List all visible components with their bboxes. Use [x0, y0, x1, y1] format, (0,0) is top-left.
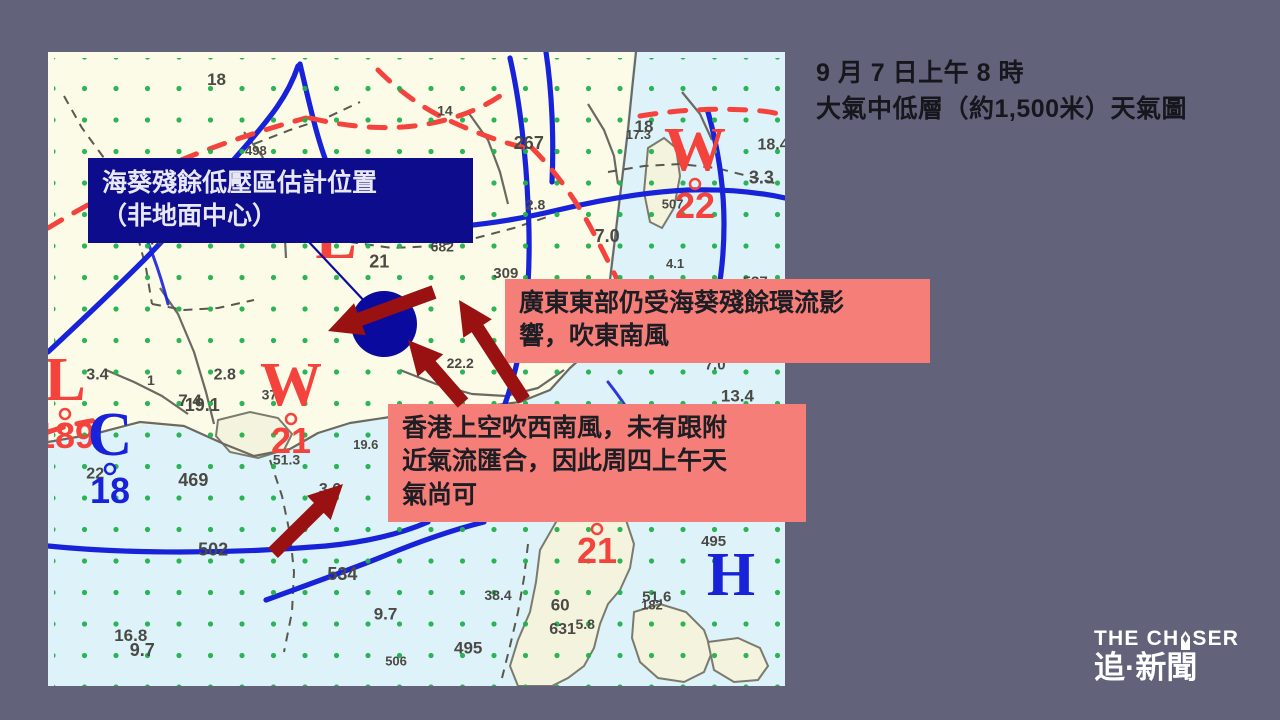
station-value: 502 [198, 540, 228, 560]
brand-logo[interactable]: THE CH SER 追·新聞 [1094, 628, 1256, 690]
callout-red-top-line-2: 響，吹東南風 [519, 320, 918, 353]
station-value: 19.6 [353, 437, 378, 452]
station-value: 21 [369, 251, 389, 271]
station-value: 3.3 [749, 168, 774, 188]
infographic-root: 50622.29.730913.47.438.42.853716.87.0534… [0, 0, 1280, 720]
map-symbol-c: C18 [88, 401, 133, 511]
station-value: 534 [327, 564, 357, 584]
station-value: 4.1 [666, 256, 684, 271]
pen-nib-icon [1180, 631, 1191, 650]
symbol-value: 18 [90, 470, 130, 511]
callout-hongkong-southwest-wind[interactable]: 香港上空吹西南風，未有跟附 近氣流匯合，因此周四上午天 氣尚可 [388, 404, 806, 522]
callout-red-top-line-1: 廣東東部仍受海葵殘餘環流影 [519, 287, 918, 320]
station-value: 3.4 [86, 367, 108, 384]
callout-blue-line-1: 海葵殘餘低壓區估計位置 [102, 167, 459, 200]
station-value: 60 [551, 596, 570, 615]
title-line-1: 9 月 7 日上午 8 時 [816, 56, 1276, 92]
weather-map-graphic: 50622.29.730913.47.438.42.853716.87.0534… [48, 52, 785, 686]
station-value: 13.4 [721, 387, 755, 406]
station-value: 51.6 [642, 588, 671, 605]
station-value: 506 [385, 653, 407, 668]
logo-english-head: THE CH [1094, 628, 1179, 649]
callout-red-bottom-line-2: 近氣流匯合，因此周四上午天 [402, 445, 794, 478]
station-value: 5.8 [576, 616, 596, 632]
station-value: 38.4 [484, 587, 511, 603]
callout-guangdong-southeast-wind[interactable]: 廣東東部仍受海葵殘餘環流影 響，吹東南風 [505, 279, 930, 363]
station-value: 1 [147, 372, 155, 388]
callout-red-bottom-line-3: 氣尚可 [402, 479, 794, 512]
callout-low-pressure-estimate[interactable]: 海葵殘餘低壓區估計位置 （非地面中心） [88, 158, 473, 243]
station-value: 9.7 [130, 640, 155, 660]
callout-red-bottom-line-1: 香港上空吹西南風，未有跟附 [402, 412, 794, 445]
station-value: 7.0 [595, 226, 620, 246]
logo-chinese: 追·新聞 [1094, 652, 1256, 684]
map-symbol-h: H [707, 541, 755, 609]
station-value: 495 [454, 639, 482, 658]
station-value: 14 [437, 103, 453, 119]
station-value: 2.8 [214, 367, 236, 384]
logo-english: THE CH SER [1094, 628, 1256, 649]
station-value: 22.2 [447, 355, 474, 371]
station-value: 18.4 [758, 137, 786, 154]
station-value: 19.1 [185, 395, 220, 415]
station-value: 18 [207, 70, 226, 89]
station-value: 2.8 [526, 197, 546, 213]
symbol-letter: L [48, 346, 86, 414]
weather-map[interactable]: 50622.29.730913.47.438.42.853716.87.0534… [48, 52, 785, 686]
station-value: 18 [635, 117, 654, 136]
station-value: 267 [514, 133, 544, 153]
page-title: 9 月 7 日上午 8 時 大氣中低層（約1,500米）天氣圖 [816, 56, 1276, 127]
symbol-value: 21 [271, 420, 311, 461]
symbol-letter: W [664, 116, 726, 184]
station-value: 9.7 [374, 604, 398, 623]
symbol-value: 22 [675, 185, 715, 226]
title-line-2: 大氣中低層（約1,500米）天氣圖 [816, 92, 1276, 128]
symbol-value: 21 [577, 530, 617, 571]
symbol-letter: W [260, 351, 322, 419]
station-value: 469 [178, 470, 208, 490]
symbol-letter: C [88, 401, 133, 469]
callout-blue-line-2: （非地面中心） [102, 200, 459, 233]
symbol-letter: H [707, 541, 755, 609]
station-value: 3.6 [319, 481, 341, 498]
logo-english-tail: SER [1192, 628, 1239, 649]
station-value: 631 [549, 621, 576, 638]
